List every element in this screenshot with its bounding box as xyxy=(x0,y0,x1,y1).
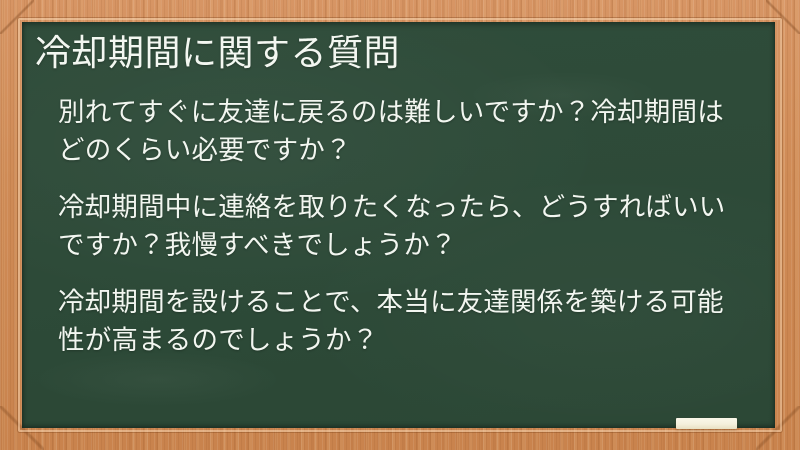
list-item: 冷却期間中に連絡を取りたくなったら、どうすればいいですか？我慢すべきでしょうか？ xyxy=(58,189,750,265)
chalkboard-content: 冷却期間に関する質問 別れてすぐに友達に戻るのは難しいですか？冷却期間はどのくら… xyxy=(22,22,775,428)
chalk-stick xyxy=(676,418,737,429)
page-title: 冷却期間に関する質問 xyxy=(35,31,735,77)
chalkboard-slide: 冷却期間に関する質問 別れてすぐに友達に戻るのは難しいですか？冷却期間はどのくら… xyxy=(0,0,800,450)
chalkboard-surface: 冷却期間に関する質問 別れてすぐに友達に戻るのは難しいですか？冷却期間はどのくら… xyxy=(22,22,775,428)
question-list: 別れてすぐに友達に戻るのは難しいですか？冷却期間はどのくらい必要ですか？ 冷却期… xyxy=(58,94,750,360)
list-item: 冷却期間を設けることで、本当に友達関係を築ける可能性が高まるのでしょうか？ xyxy=(58,284,750,360)
list-item: 別れてすぐに友達に戻るのは難しいですか？冷却期間はどのくらい必要ですか？ xyxy=(58,94,750,170)
